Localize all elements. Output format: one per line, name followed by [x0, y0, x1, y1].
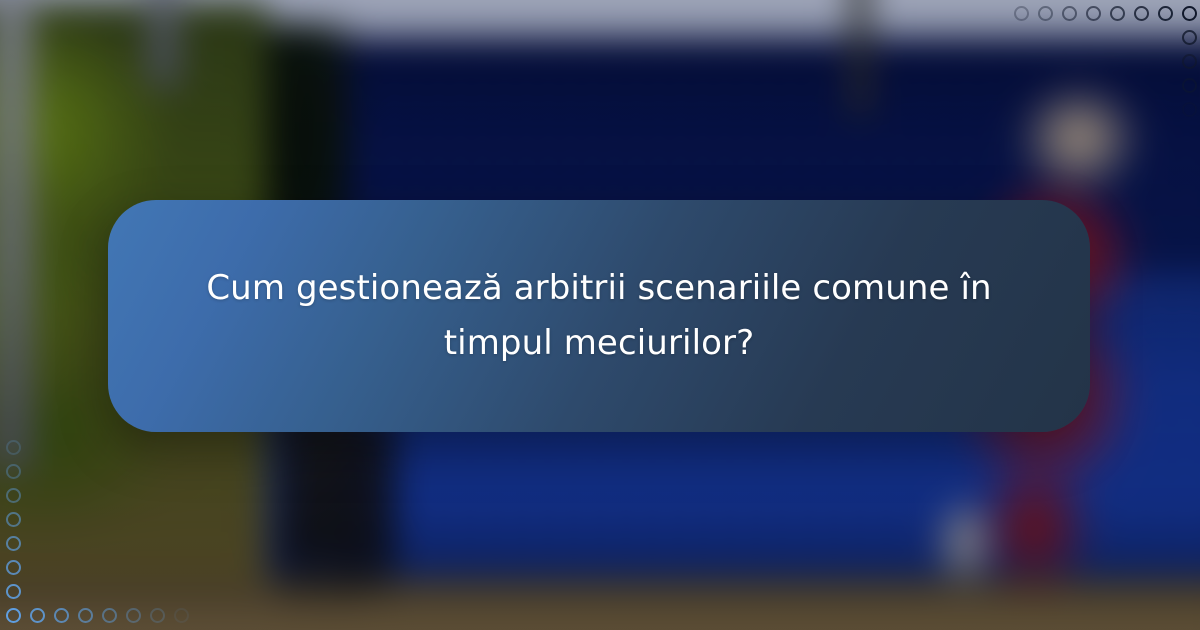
poster-canvas: Cum gestionează arbitrii scenariile comu… [0, 0, 1200, 630]
question-card: Cum gestionează arbitrii scenariile comu… [108, 200, 1090, 432]
question-text: Cum gestionează arbitrii scenariile comu… [194, 261, 1004, 371]
